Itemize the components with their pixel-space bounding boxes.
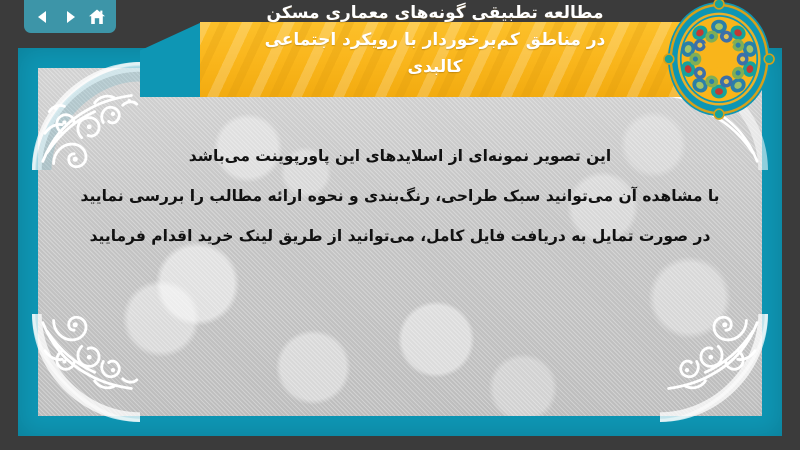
slide-canvas: این تصویر نمونه‌ای از اسلایدهای این پاور…	[18, 48, 782, 436]
home-icon	[88, 8, 106, 26]
body-line-3: در صورت تمایل به دریافت فایل کامل، می‌تو…	[46, 216, 754, 256]
triangle-left-icon	[35, 9, 51, 25]
slide-viewer: این تصویر نمونه‌ای از اسلایدهای این پاور…	[0, 0, 800, 450]
triangle-right-icon	[62, 9, 78, 25]
body-line-1: این تصویر نمونه‌ای از اسلایدهای این پاور…	[46, 136, 754, 176]
next-slide-button[interactable]	[58, 5, 82, 29]
previous-slide-button[interactable]	[31, 5, 55, 29]
body-line-2: با مشاهده آن می‌توانید سبک طراحی، رنگ‌بن…	[46, 176, 754, 216]
title-line-1: مطالعه تطبیقی گونه‌های معماری مسکن	[180, 0, 690, 27]
slide-body-text: این تصویر نمونه‌ای از اسلایدهای این پاور…	[18, 136, 782, 256]
slide-navigation-toolbar	[24, 0, 116, 33]
home-button[interactable]	[85, 5, 109, 29]
